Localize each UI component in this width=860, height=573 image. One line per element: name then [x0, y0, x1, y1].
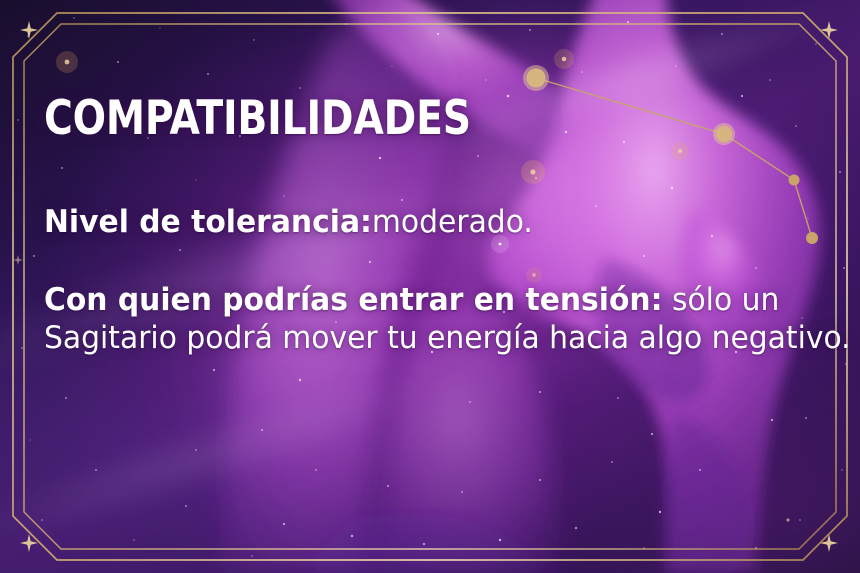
tolerance-label: Nivel de tolerancia:: [44, 204, 372, 240]
tolerance-value: moderado.: [372, 204, 533, 240]
tension-label: Con quien podrías entrar en tensión:: [44, 282, 663, 318]
tension-value-part1: sólo un: [663, 282, 780, 318]
page-title: COMPATIBILIDADES: [44, 95, 471, 142]
horoscope-compatibility-card: COMPATIBILIDADES Nivel de tolerancia:mod…: [0, 0, 860, 573]
tension-line-1: Con quien podrías entrar en tensión: sól…: [44, 281, 779, 319]
tension-value-part2: Sagitario podrá mover tu energía hacia a…: [44, 320, 851, 356]
tolerance-line: Nivel de tolerancia:moderado.: [44, 203, 533, 241]
tension-line-2: Sagitario podrá mover tu energía hacia a…: [44, 319, 851, 357]
text-content: COMPATIBILIDADES Nivel de tolerancia:mod…: [44, 0, 834, 573]
